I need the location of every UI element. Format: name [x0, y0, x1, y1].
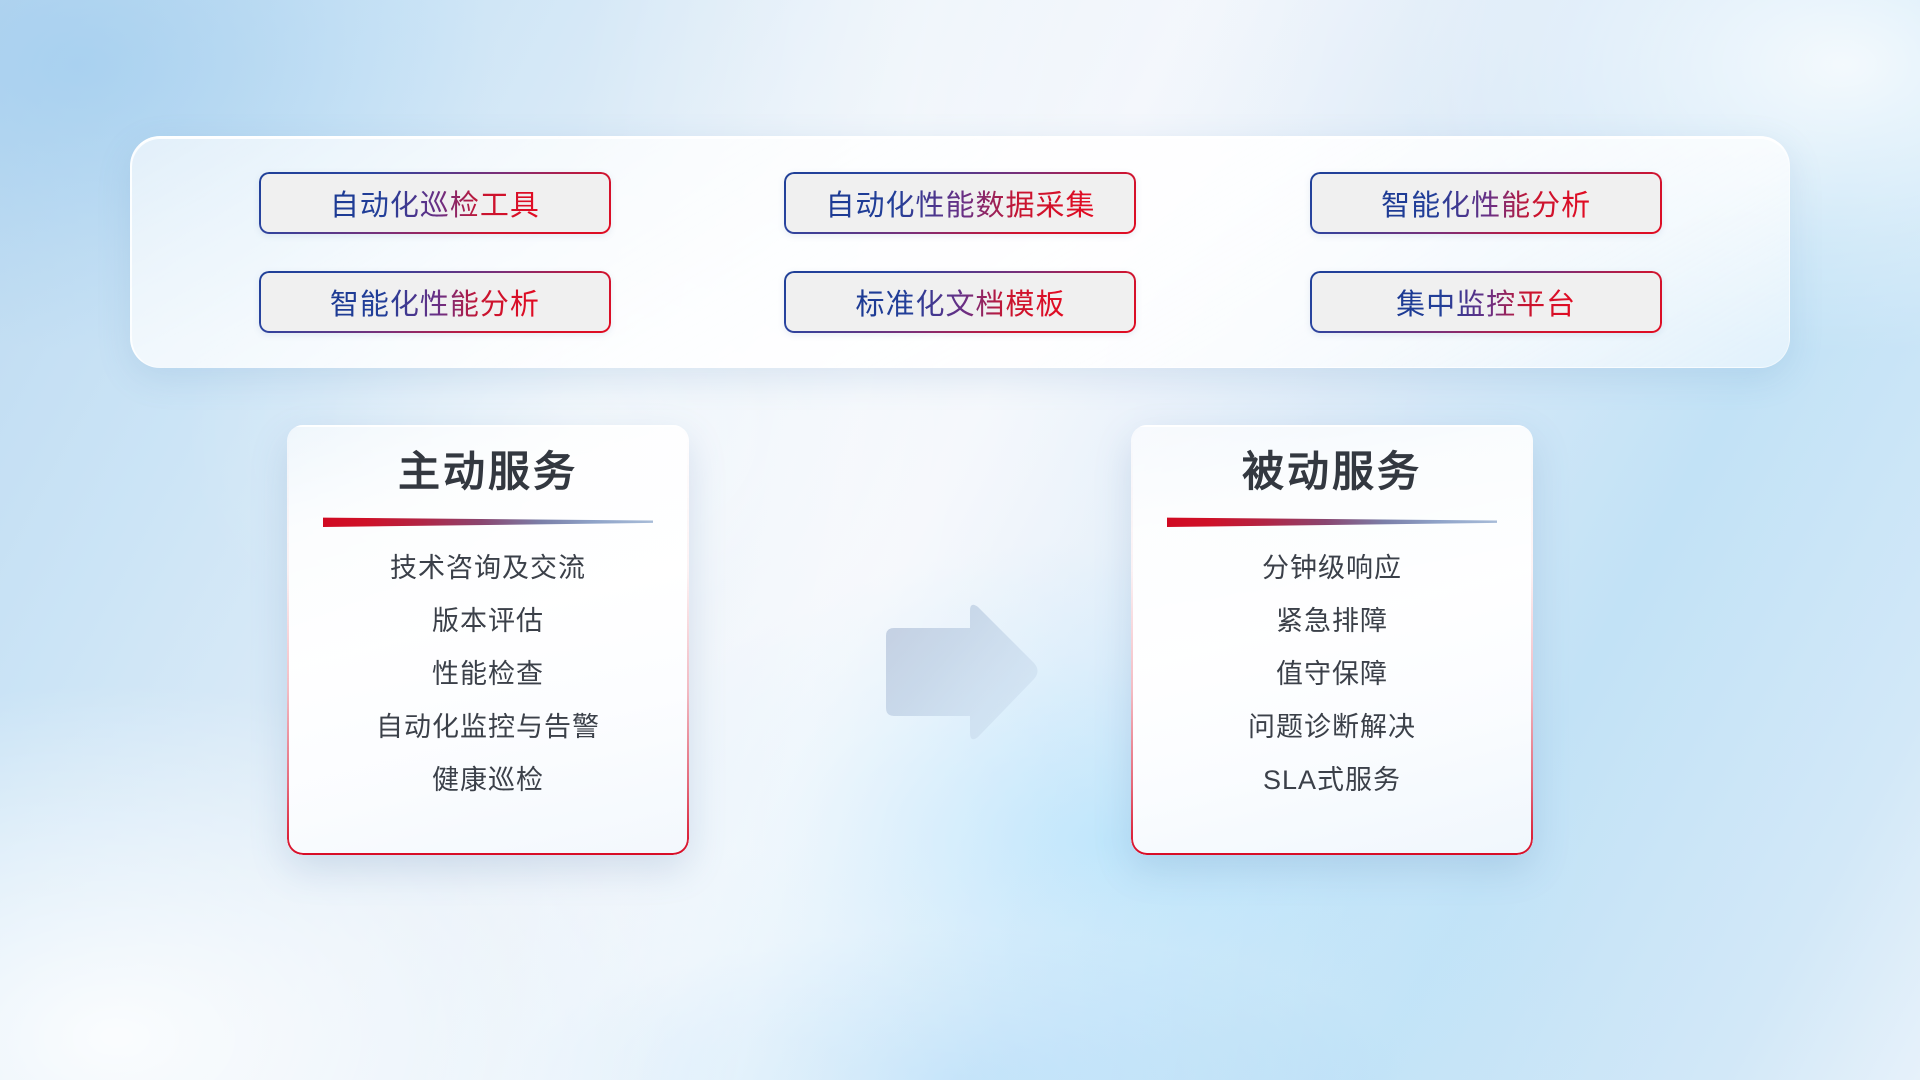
capability-tag-label: 标准化文档模板 [855, 281, 1065, 323]
capability-tag[interactable]: 智能化性能分析 [1310, 172, 1662, 234]
service-card-active: 主动服务 技术咨询及交流 版本评估 性能检查 自动化监控与告警 健康巡检 [287, 425, 689, 855]
service-card-passive: 被动服务 分钟级响应 紧急排障 值守保障 问题诊断解决 SLA式服务 [1131, 425, 1533, 855]
list-item: 问题诊断解决 [1248, 714, 1416, 741]
list-item: 值守保障 [1276, 661, 1388, 688]
capability-tag-label: 自动化性能数据采集 [825, 182, 1095, 224]
capability-tag-label: 智能化性能分析 [330, 281, 540, 323]
list-item: 自动化监控与告警 [376, 714, 600, 741]
list-item: 性能检查 [432, 661, 544, 688]
capability-tag-label: 集中监控平台 [1396, 281, 1576, 323]
capability-tag[interactable]: 智能化性能分析 [259, 271, 611, 333]
list-item: 技术咨询及交流 [390, 555, 586, 582]
capability-tag-label: 智能化性能分析 [1381, 182, 1591, 224]
card-title: 被动服务 [1242, 451, 1422, 493]
card-item-list: 技术咨询及交流 版本评估 性能检查 自动化监控与告警 健康巡检 [287, 555, 689, 794]
capability-tag[interactable]: 自动化性能数据采集 [784, 172, 1136, 234]
capability-tag[interactable]: 标准化文档模板 [784, 271, 1136, 333]
capability-tag-label: 自动化巡检工具 [330, 182, 540, 224]
slide-canvas: 自动化巡检工具 自动化性能数据采集 智能化性能分析 智能化性能分析 标准化文档模… [0, 0, 1920, 1080]
list-item: 版本评估 [432, 608, 544, 635]
capability-tag[interactable]: 集中监控平台 [1310, 271, 1662, 333]
list-item: 紧急排障 [1276, 608, 1388, 635]
arrow-right-icon-svg [878, 601, 1040, 743]
list-item: 健康巡检 [432, 767, 544, 794]
capability-tag-panel: 自动化巡检工具 自动化性能数据采集 智能化性能分析 智能化性能分析 标准化文档模… [130, 136, 1790, 368]
card-divider [323, 515, 653, 527]
list-item: 分钟级响应 [1262, 555, 1402, 582]
capability-tag[interactable]: 自动化巡检工具 [259, 172, 611, 234]
card-divider-shape [323, 515, 653, 527]
card-divider [1167, 515, 1497, 527]
card-title: 主动服务 [398, 451, 578, 493]
card-item-list: 分钟级响应 紧急排障 值守保障 问题诊断解决 SLA式服务 [1131, 555, 1533, 794]
card-divider-shape [1167, 515, 1497, 527]
list-item: SLA式服务 [1263, 767, 1401, 794]
arrow-right-icon [878, 601, 1040, 743]
